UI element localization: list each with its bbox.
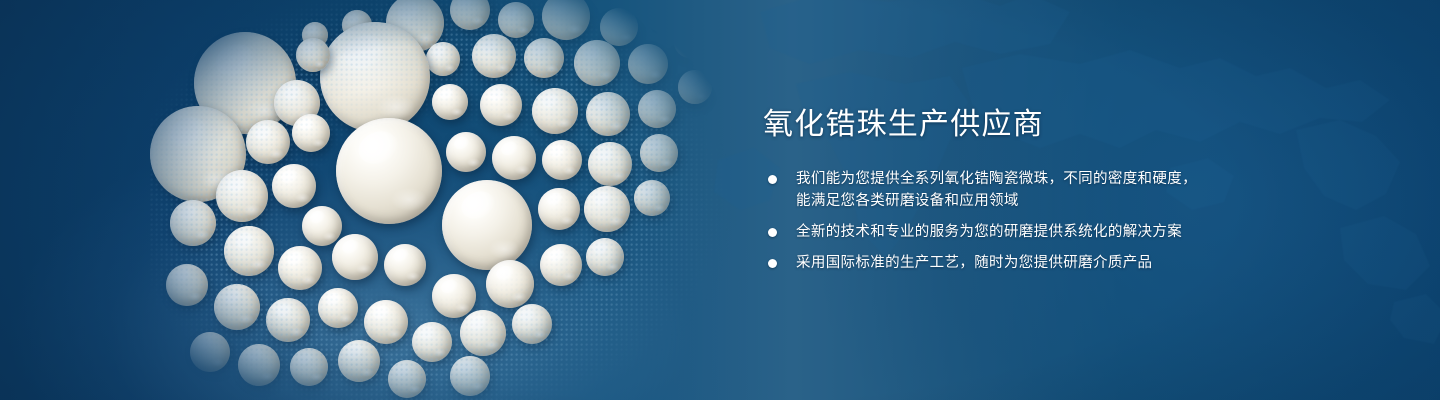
page-title: 氧化锆珠生产供应商 [763,108,1323,142]
dot-bullet-icon [768,259,777,268]
list-item-line: 能满足您各类研磨设备和应用领域 [796,190,1323,212]
feature-list: 我们能为您提供全系列氧化锆陶瓷微珠，不同的密度和硬度， 能满足您各类研磨设备和应… [768,168,1323,274]
list-item-line: 采用国际标准的生产工艺，随时为您提供研磨介质产品 [796,252,1323,274]
banner-content: 氧化锆珠生产供应商 我们能为您提供全系列氧化锆陶瓷微珠，不同的密度和硬度， 能满… [763,108,1323,274]
list-item: 采用国际标准的生产工艺，随时为您提供研磨介质产品 [768,252,1323,274]
list-item-line: 全新的技术和专业的服务为您的研磨提供系统化的解决方案 [796,221,1323,243]
list-item: 全新的技术和专业的服务为您的研磨提供系统化的解决方案 [768,221,1323,243]
dot-bullet-icon [768,175,777,184]
list-item: 我们能为您提供全系列氧化锆陶瓷微珠，不同的密度和硬度， 能满足您各类研磨设备和应… [768,168,1323,212]
list-item-line: 我们能为您提供全系列氧化锆陶瓷微珠，不同的密度和硬度， [796,168,1323,190]
hero-banner: 氧化锆珠生产供应商 我们能为您提供全系列氧化锆陶瓷微珠，不同的密度和硬度， 能满… [0,0,1440,400]
dot-bullet-icon [768,228,777,237]
